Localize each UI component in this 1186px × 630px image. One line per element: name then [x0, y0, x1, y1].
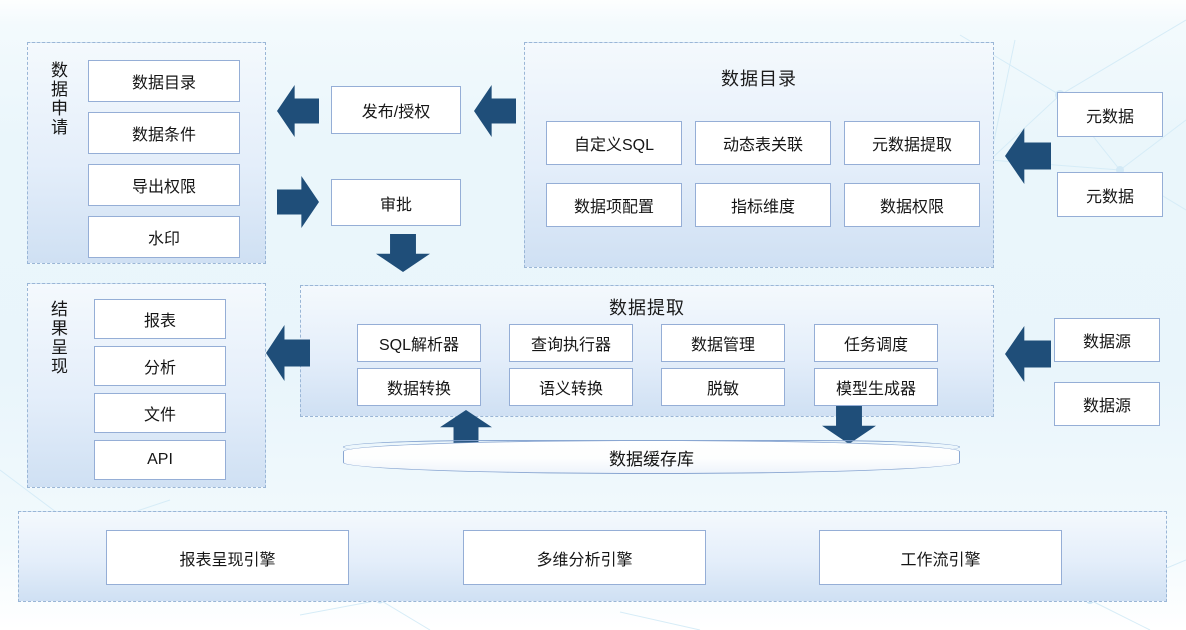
box-sql-parser[interactable]: SQL解析器 [357, 324, 481, 362]
box-watermark[interactable]: 水印 [88, 216, 240, 258]
box-report[interactable]: 报表 [94, 299, 226, 339]
box-task-scheduling[interactable]: 任务调度 [814, 324, 938, 362]
box-workflow-engine[interactable]: 工作流引擎 [819, 530, 1062, 585]
panel-data-request: 数据申请 数据目录 数据条件 导出权限 水印 [27, 42, 266, 264]
box-data-item-config[interactable]: 数据项配置 [546, 183, 682, 227]
box-analysis[interactable]: 分析 [94, 346, 226, 386]
panel-data-request-label: 数据申请 [36, 61, 66, 137]
box-semantic-transform[interactable]: 语义转换 [509, 368, 633, 406]
panel-data-extraction: 数据提取 SQL解析器 查询执行器 数据管理 任务调度 数据转换 语义转换 脱敏… [300, 285, 994, 417]
panel-result-presentation: 结果呈现 报表 分析 文件 API [27, 283, 266, 488]
panel-engines: 报表呈现引擎 多维分析引擎 工作流引擎 [18, 511, 1167, 602]
box-data-condition[interactable]: 数据条件 [88, 112, 240, 154]
diagram-canvas: 数据申请 数据目录 数据条件 导出权限 水印 结果呈现 报表 分析 文件 API… [0, 0, 1186, 630]
box-data-permission[interactable]: 数据权限 [844, 183, 980, 227]
box-metadata-2[interactable]: 元数据 [1057, 172, 1163, 217]
box-report-engine[interactable]: 报表呈现引擎 [106, 530, 349, 585]
arrow-request-to-approval [277, 176, 319, 228]
arrow-catalog-to-publish [474, 85, 516, 137]
box-metadata-1[interactable]: 元数据 [1057, 92, 1163, 137]
box-custom-sql[interactable]: 自定义SQL [546, 121, 682, 165]
arrow-publish-to-request [277, 85, 319, 137]
box-desensitization[interactable]: 脱敏 [661, 368, 785, 406]
panel-data-catalog: 数据目录 自定义SQL 动态表关联 元数据提取 数据项配置 指标维度 数据权限 [524, 42, 994, 268]
box-metadata-extraction[interactable]: 元数据提取 [844, 121, 980, 165]
panel-data-catalog-title: 数据目录 [525, 65, 993, 91]
box-olap-engine[interactable]: 多维分析引擎 [463, 530, 706, 585]
arrow-datasource-to-extraction [1005, 326, 1051, 382]
panel-data-extraction-title: 数据提取 [301, 294, 993, 320]
box-api[interactable]: API [94, 440, 226, 480]
arrow-metadata-to-catalog [1005, 128, 1051, 184]
arrow-approval-to-extraction [376, 234, 430, 272]
box-publish-authorize[interactable]: 发布/授权 [331, 86, 461, 134]
box-export-permission[interactable]: 导出权限 [88, 164, 240, 206]
box-metric-dimension[interactable]: 指标维度 [695, 183, 831, 227]
box-data-transform[interactable]: 数据转换 [357, 368, 481, 406]
box-datasource-2[interactable]: 数据源 [1054, 382, 1160, 426]
box-data-management[interactable]: 数据管理 [661, 324, 785, 362]
cylinder-top-ellipse [343, 440, 960, 454]
box-query-executor[interactable]: 查询执行器 [509, 324, 633, 362]
box-approval[interactable]: 审批 [331, 179, 461, 226]
panel-result-presentation-label: 结果呈现 [36, 300, 66, 376]
box-dynamic-table-join[interactable]: 动态表关联 [695, 121, 831, 165]
box-file[interactable]: 文件 [94, 393, 226, 433]
box-model-generator[interactable]: 模型生成器 [814, 368, 938, 406]
box-datasource-1[interactable]: 数据源 [1054, 318, 1160, 362]
box-data-catalog-request[interactable]: 数据目录 [88, 60, 240, 102]
